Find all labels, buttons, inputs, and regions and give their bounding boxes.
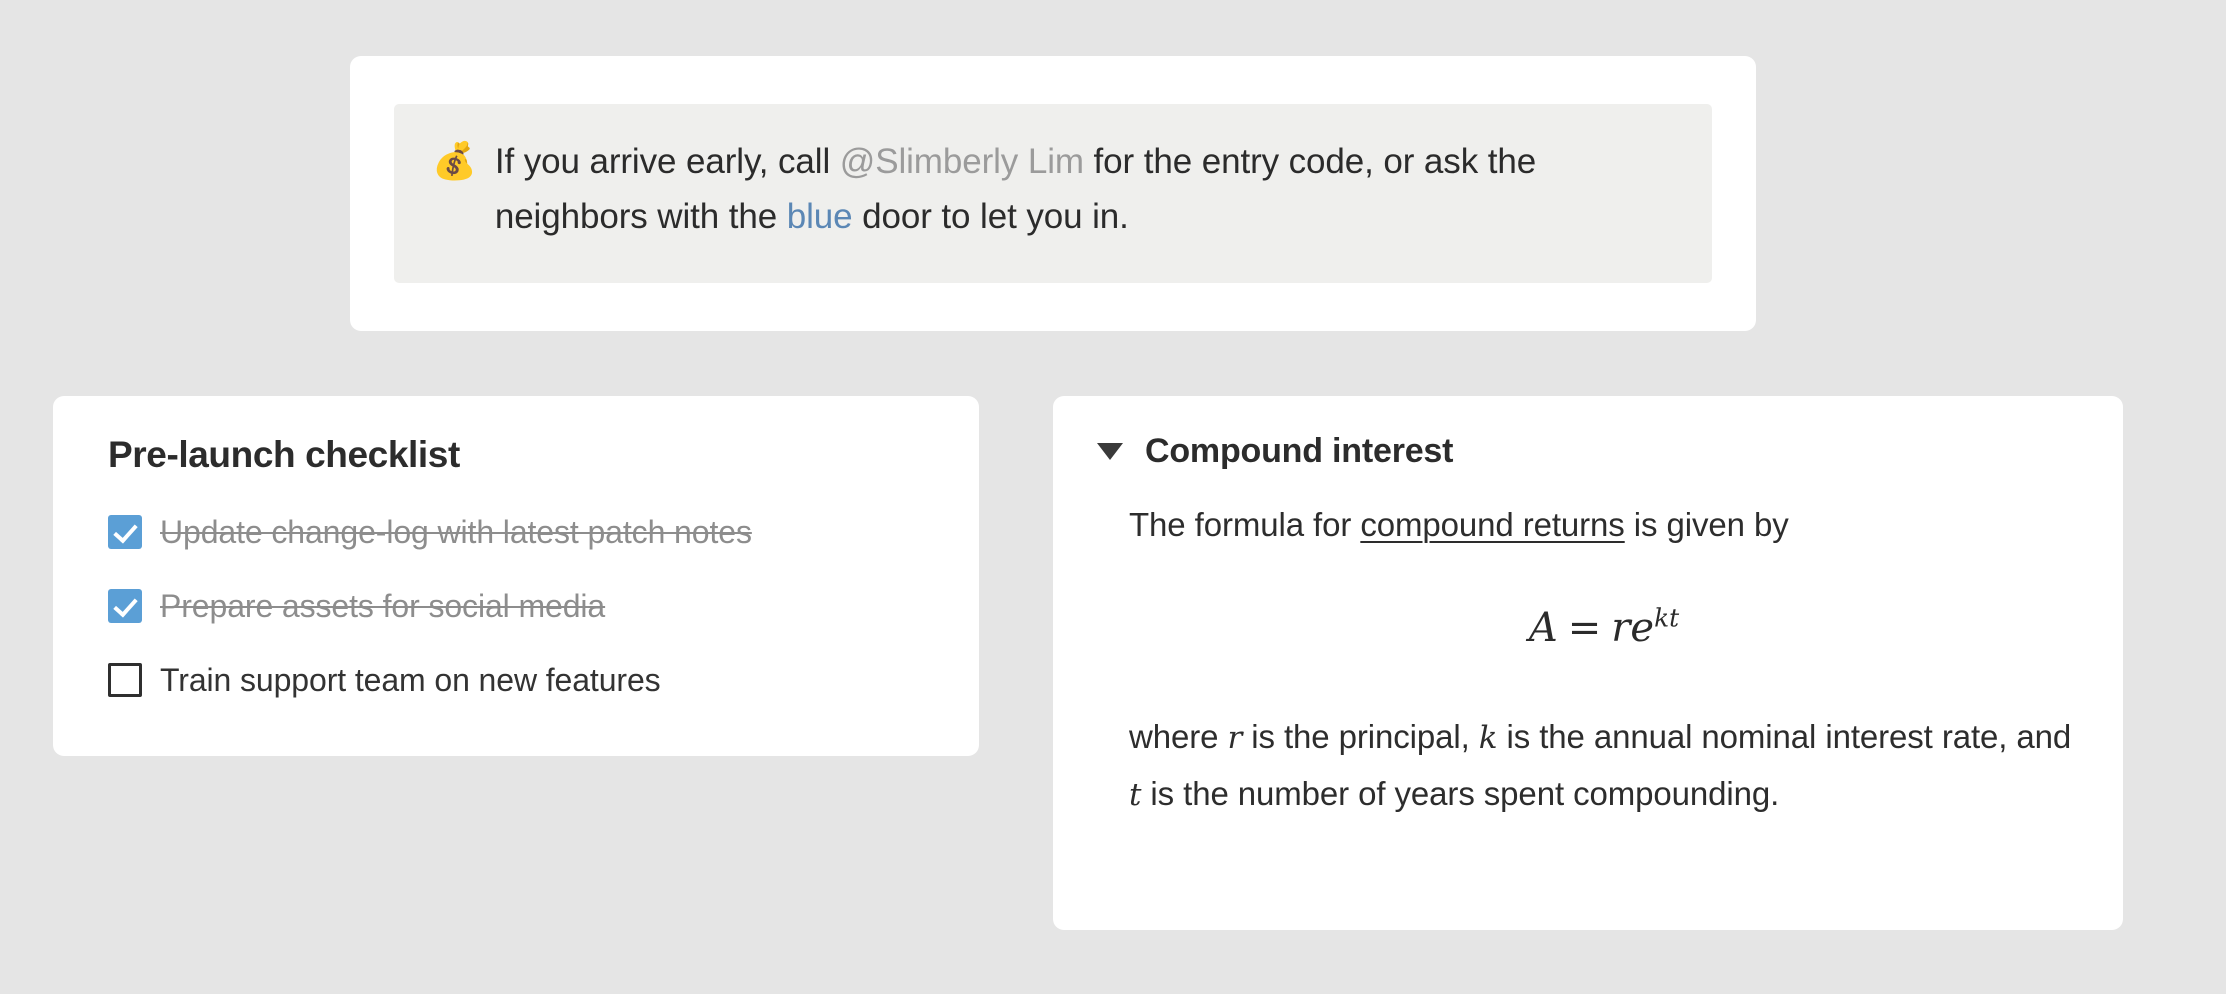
formula-rhs-exponent: kt	[1654, 604, 1679, 633]
checkbox-checked-icon[interactable]	[108, 589, 142, 623]
callout-text: If you arrive early, call @Slimberly Lim…	[495, 134, 1674, 244]
list-item[interactable]: Prepare assets for social media	[108, 578, 924, 634]
math-var-k: k	[1479, 720, 1498, 756]
compound-returns-term[interactable]: compound returns	[1360, 506, 1624, 543]
page-title: Pre-launch checklist	[108, 434, 924, 476]
detail-body: The formula for compound returns is give…	[1097, 497, 2079, 823]
formula-operator: =	[1568, 605, 1602, 651]
checkbox-unchecked-icon[interactable]	[108, 663, 142, 697]
section-title: Compound interest	[1145, 432, 1453, 471]
intro-after: is given by	[1625, 506, 1789, 543]
callout-card: 💰 If you arrive early, call @Slimberly L…	[350, 56, 1756, 331]
compound-interest-card: Compound interest The formula for compou…	[1053, 396, 2123, 930]
explain-3: is the annual nominal interest rate, and	[1497, 718, 2071, 755]
callout-text-part3: door to let you in.	[853, 197, 1129, 236]
callout-text-part1: If you arrive early, call	[495, 142, 840, 181]
callout-box: 💰 If you arrive early, call @Slimberly L…	[394, 104, 1712, 283]
formula-block: A=rekt	[1129, 604, 2079, 651]
formula-rhs-base: re	[1611, 605, 1654, 651]
explain-1: where	[1129, 718, 1227, 755]
blue-link[interactable]: blue	[787, 197, 853, 236]
disclosure-header[interactable]: Compound interest	[1097, 432, 2079, 471]
explain-4: is the number of years spent compounding…	[1141, 775, 1779, 812]
user-mention[interactable]: @Slimberly Lim	[840, 142, 1084, 181]
checkbox-checked-icon[interactable]	[108, 515, 142, 549]
math-var-t: t	[1129, 777, 1141, 813]
list-item[interactable]: Train support team on new features	[108, 652, 924, 708]
checklist-card: Pre-launch checklist Update change-log w…	[53, 396, 979, 756]
money-bag-icon: 💰	[432, 134, 477, 190]
page-root: 💰 If you arrive early, call @Slimberly L…	[0, 0, 2226, 994]
intro-before: The formula for	[1129, 506, 1360, 543]
intro-paragraph: The formula for compound returns is give…	[1129, 497, 2079, 552]
list-item-label: Update change-log with latest patch note…	[160, 514, 752, 551]
chevron-down-icon[interactable]	[1097, 443, 1123, 460]
list-item-label: Prepare assets for social media	[160, 588, 605, 625]
explanation-paragraph: where r is the principal, k is the annua…	[1129, 709, 2079, 823]
list-item-label: Train support team on new features	[160, 662, 661, 699]
compound-interest-formula: A=rekt	[1529, 605, 1679, 651]
math-var-r: r	[1227, 720, 1242, 756]
list-item[interactable]: Update change-log with latest patch note…	[108, 504, 924, 560]
formula-lhs: A	[1529, 605, 1558, 651]
explain-2: is the principal,	[1242, 718, 1479, 755]
